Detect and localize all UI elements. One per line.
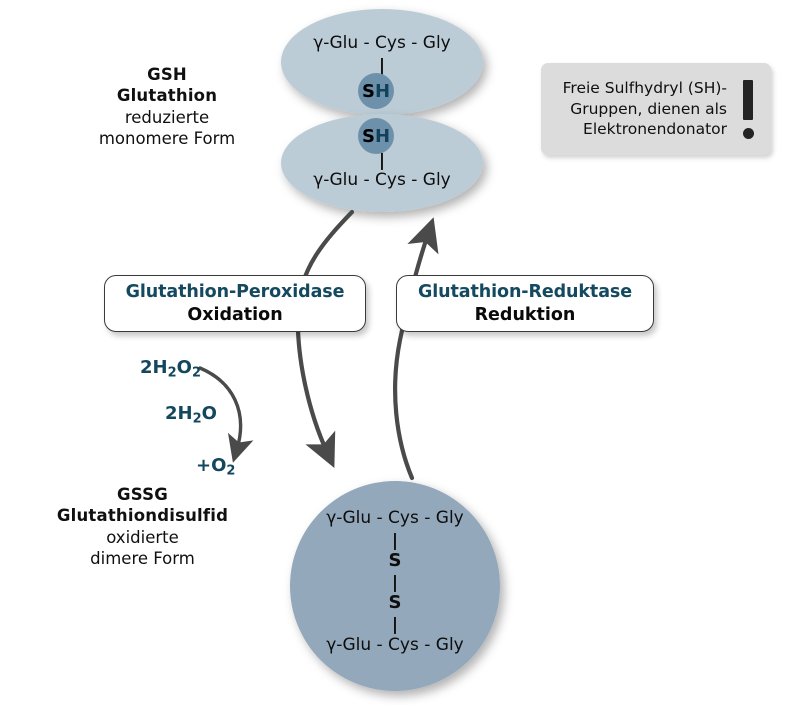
info-callout: Freie Sulfhydryl (SH)- Gruppen, dienen a… [541, 63, 771, 155]
gsh-top-bond: | [282, 58, 482, 75]
gssg-bond-1: | [295, 533, 495, 550]
enzyme-peroxidase-name: Glutathion-Peroxidase [126, 282, 345, 303]
gssg-peptide-top: γ-Glu - Cys - Gly [295, 508, 495, 528]
gsh-bottom-peptide: γ-Glu - Cys - Gly [282, 170, 482, 190]
enzyme-reduktase-action: Reduktion [475, 305, 576, 326]
gsh-bottom-thiol-h: H [375, 126, 390, 147]
gsh-state-line1: reduzierte [62, 107, 272, 128]
reduction-arrow [395, 234, 428, 478]
gsh-label: GSH Glutathion reduzierte monomere Form [62, 64, 272, 150]
diagram-canvas: GSH Glutathion reduzierte monomere Form … [0, 0, 808, 705]
formula-h2o2-sub-o: 2 [192, 366, 201, 381]
formula-h2o-coefficient: 2 [165, 403, 178, 424]
exclamation-bar [743, 80, 753, 120]
callout-line-1: Freie Sulfhydryl (SH)- [555, 78, 727, 99]
gsh-bottom-bond: | [282, 153, 482, 170]
formula-h2o2-coefficient: 2 [140, 357, 153, 378]
enzyme-box-reduktase[interactable]: Glutathion-Reduktase Reduktion [396, 275, 654, 332]
gsh-top-peptide: γ-Glu - Cys - Gly [282, 33, 482, 53]
callout-line-3: Elektronendonator [555, 119, 727, 140]
formula-h2o-sub-h: 2 [193, 412, 202, 427]
gssg-state-line1: oxidierte [20, 527, 265, 548]
formula-h2o2-sub-h: 2 [168, 366, 177, 381]
formula-hydrogen-peroxide: 2H2O2 [140, 357, 201, 381]
formula-o2-element: O [211, 455, 226, 476]
formula-o2-sub: 2 [226, 464, 235, 479]
gsh-bottom-thiol-badge: SH [358, 118, 394, 154]
gsh-abbrev: GSH [62, 64, 272, 85]
gssg-bond-2: | [295, 575, 495, 592]
formula-o2-prefix: + [196, 455, 211, 476]
gssg-sulfur-1: S [295, 552, 495, 570]
formula-h2o2-element-h: H [153, 357, 168, 378]
formula-h2o2-element-o: O [177, 357, 192, 378]
gsh-state-line2: monomere Form [62, 128, 272, 149]
callout-line-2: Gruppen, dienen als [555, 99, 727, 120]
exclamation-mark-icon [737, 80, 759, 139]
gssg-label: GSSG Glutathiondisulfid oxidierte dimere… [20, 484, 265, 570]
callout-text: Freie Sulfhydryl (SH)- Gruppen, dienen a… [555, 78, 727, 140]
gssg-state-line2: dimere Form [20, 548, 265, 569]
gsh-name: Glutathion [62, 85, 272, 106]
enzyme-box-peroxidase[interactable]: Glutathion-Peroxidase Oxidation [104, 275, 366, 332]
gssg-name: Glutathiondisulfid [20, 505, 265, 526]
gsh-top-thiol-badge: SH [358, 73, 394, 109]
gssg-sulfur-2: S [295, 594, 495, 612]
exclamation-dot [743, 128, 754, 139]
formula-water: 2H2O [165, 403, 217, 427]
gsh-bottom-thiol-s: S [362, 126, 375, 147]
gsh-top-thiol-s: S [362, 81, 375, 102]
gssg-abbrev: GSSG [20, 484, 265, 505]
gssg-peptide-bottom: γ-Glu - Cys - Gly [295, 635, 495, 655]
oxidation-arrow [298, 212, 352, 452]
formula-oxygen: +O2 [196, 455, 235, 479]
enzyme-peroxidase-action: Oxidation [187, 305, 282, 326]
formula-h2o-element-h: H [178, 403, 193, 424]
gsh-top-thiol-h: H [375, 81, 390, 102]
formula-h2o-element-o: O [202, 403, 217, 424]
gssg-bond-3: | [295, 617, 495, 634]
enzyme-reduktase-name: Glutathion-Reduktase [418, 282, 632, 303]
